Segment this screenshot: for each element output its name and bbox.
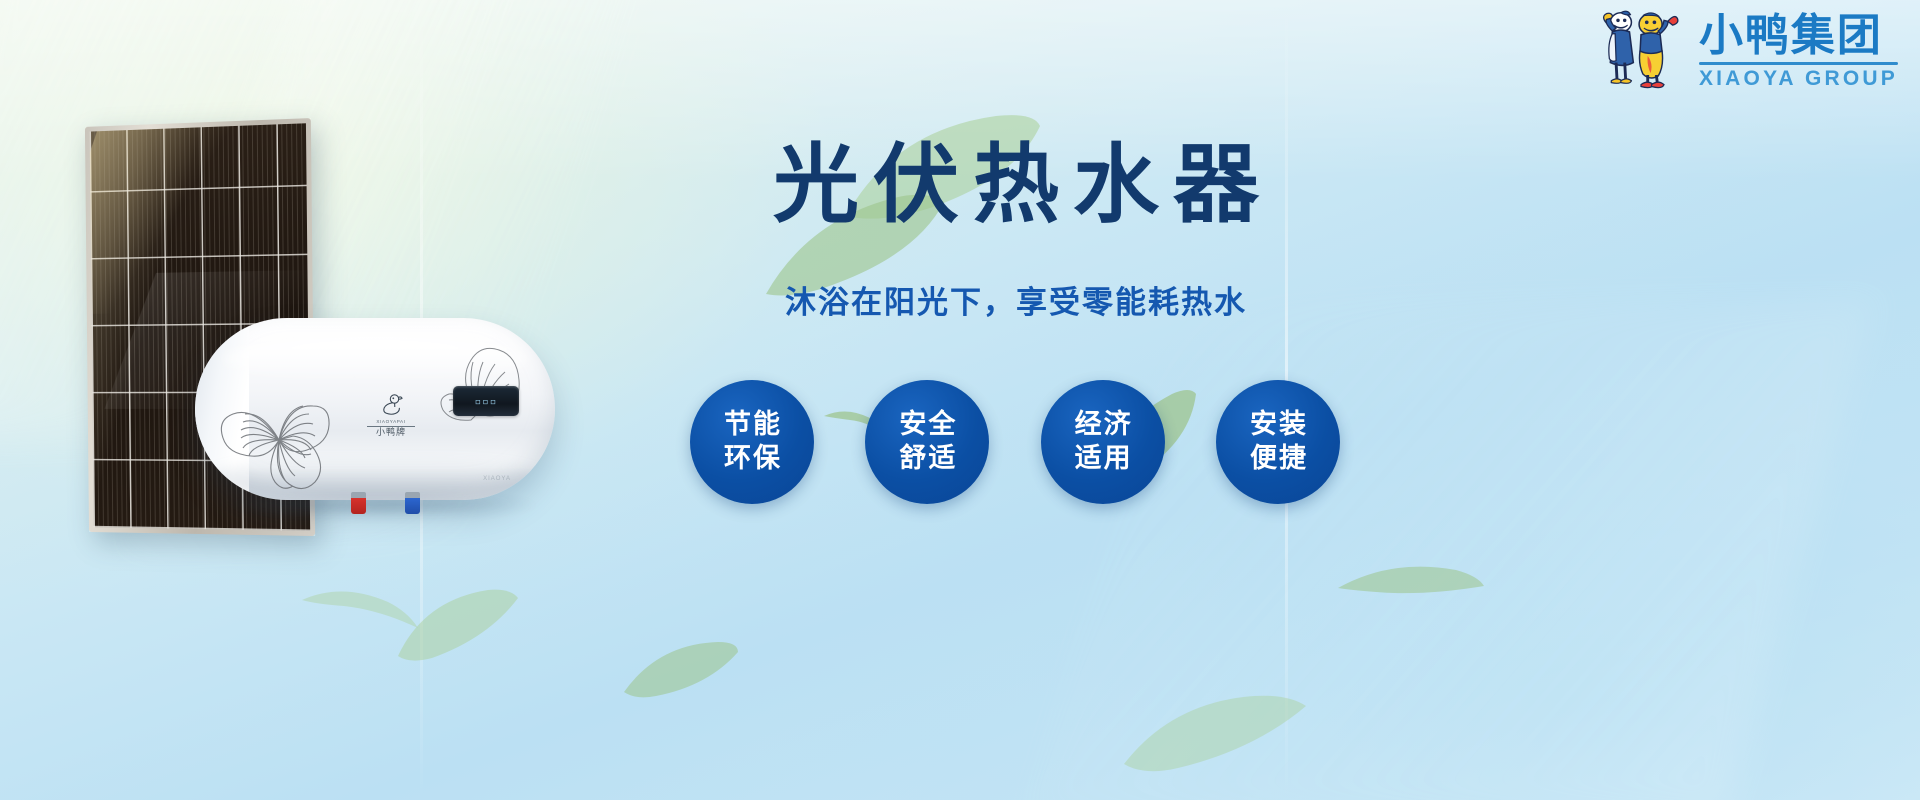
green-leaf-icon <box>1336 532 1486 602</box>
green-leaf-icon <box>620 638 740 702</box>
cold-water-pipe <box>405 492 420 514</box>
feature-badge-line1: 节能 <box>722 408 782 442</box>
brand-name-cn: 小鸭集团 <box>1699 13 1898 59</box>
green-leaf-icon <box>300 584 420 654</box>
promotional-banner: 小鸭集团 XIAOYA GROUP <box>0 0 1920 800</box>
heater-display-text: ▫▫▫ <box>475 395 498 408</box>
feature-badge-line2: 便捷 <box>1248 442 1308 476</box>
heater-brand-cn: 小鸭牌 <box>361 428 421 437</box>
heater-side-label: XIAOYA <box>483 476 511 482</box>
green-leaf-icon <box>1120 690 1310 776</box>
heater-tank-body: XIAOYAPAI 小鸭牌 ▫▫▫ XIAOYA <box>195 318 555 500</box>
heater-brand-en: XIAOYAPAI <box>361 420 421 425</box>
heater-brand-mark: XIAOYAPAI 小鸭牌 <box>361 392 421 437</box>
feature-badge-easy-install[interactable]: 安装 便捷 <box>1216 380 1340 504</box>
feature-badge-energy-saving[interactable]: 节能 环保 <box>690 380 814 504</box>
feature-badge-line1: 经济 <box>1073 408 1133 442</box>
page-title: 光伏热水器 <box>706 137 1326 233</box>
feature-badge-line1: 安全 <box>897 408 957 442</box>
brand-logo-text: 小鸭集团 XIAOYA GROUP <box>1699 13 1898 91</box>
feature-badge-line2: 舒适 <box>897 442 957 476</box>
two-ducks-mascot-icon <box>1593 6 1689 98</box>
horizontal-electric-water-heater: XIAOYAPAI 小鸭牌 ▫▫▫ XIAOYA <box>195 318 555 500</box>
feature-badge-line1: 安装 <box>1248 408 1308 442</box>
feature-badge-list: 节能 环保 安全 舒适 经济 适用 安装 便捷 <box>690 380 1340 504</box>
feature-badge-economical[interactable]: 经济 适用 <box>1041 380 1165 504</box>
brand-logo[interactable]: 小鸭集团 XIAOYA GROUP <box>1593 6 1898 98</box>
heater-control-display[interactable]: ▫▫▫ <box>453 386 519 416</box>
hot-water-pipe <box>351 492 366 514</box>
page-subtitle: 沐浴在阳光下，享受零能耗热水 <box>706 277 1326 322</box>
green-leaf-icon <box>394 586 524 664</box>
duck-logo-icon <box>378 392 404 418</box>
brand-name-en: XIAOYA GROUP <box>1699 67 1898 91</box>
heater-gloss-highlight <box>224 336 526 383</box>
feature-badge-line2: 适用 <box>1073 442 1133 476</box>
feature-badge-safe-comfortable[interactable]: 安全 舒适 <box>865 380 989 504</box>
feature-badge-line2: 环保 <box>722 442 782 476</box>
brand-logo-rule <box>1699 62 1898 65</box>
light-streak-3 <box>1025 300 1874 800</box>
